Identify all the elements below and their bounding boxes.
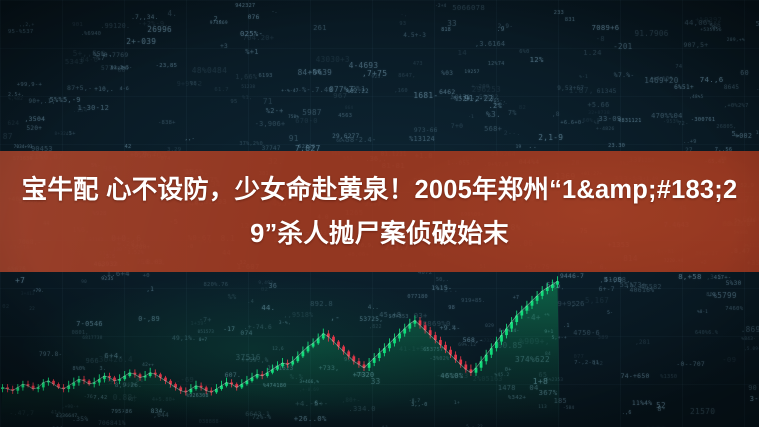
candle-body <box>378 353 381 358</box>
ticker-number: 064 <box>345 105 353 110</box>
ticker-number: 168% <box>125 383 137 388</box>
ticker-number: 53725, <box>359 316 383 323</box>
ticker-number: %8170 <box>451 95 470 101</box>
ticker-number: 0801, <box>72 330 89 336</box>
candle-body <box>408 324 411 329</box>
ticker-number: ,7+75 <box>362 69 387 78</box>
candle-body <box>490 348 493 355</box>
ticker-number: .. <box>528 141 537 150</box>
ticker-number: 45,+8 <box>379 311 401 319</box>
ticker-number: 95 <box>230 99 237 105</box>
candle-body <box>459 360 462 365</box>
ticker-number: 8645 <box>724 85 739 91</box>
ticker-number: 818 <box>441 27 451 33</box>
ticker-number: 58-2.4- <box>346 136 377 144</box>
candle-body <box>296 356 299 361</box>
ticker-number: +4.-5+- <box>295 399 328 408</box>
ticker-number: 60%-9 <box>583 118 600 124</box>
ticker-number: 1469+20 <box>644 76 679 85</box>
page-title: 宝牛配 心不设防，少女命赴黄泉！2005年郑州“1&amp;#183;29”杀人… <box>0 168 759 256</box>
candle-body <box>159 374 162 377</box>
ticker-number: .%6940 <box>81 31 102 37</box>
ticker-number: %.% <box>290 373 303 381</box>
ticker-number: %1350 <box>660 374 677 380</box>
ticker-number: %13124 <box>409 135 435 143</box>
ticker-number: 704.20+ <box>243 34 275 42</box>
ticker-number: 077%7 <box>329 85 353 94</box>
candle-body <box>78 379 81 382</box>
ticker-number: 2-9- <box>498 23 514 30</box>
ticker-number: 03+ <box>414 311 428 320</box>
ticker-number: 0-,89 <box>138 315 160 323</box>
ticker-number: 19 <box>516 145 522 150</box>
ticker-number: ++4-%04 <box>650 77 672 82</box>
ticker-number: +7320 <box>353 371 375 379</box>
ticker-number: 98 <box>448 305 455 311</box>
candle-body <box>464 365 467 370</box>
ticker-number: +79. <box>33 288 44 293</box>
ticker-number: 901 <box>72 22 83 28</box>
ticker-number: 973-66 <box>414 127 438 134</box>
ticker-number: 7,42 <box>93 395 107 401</box>
ticker-number: 2, <box>214 15 223 23</box>
ticker-number: -2+4 <box>435 3 446 8</box>
ticker-number: 0.88+ <box>113 393 138 402</box>
ticker-number: ,80+- <box>342 398 361 404</box>
ticker-number: 6+-7 <box>599 286 615 293</box>
candle-body <box>220 386 223 389</box>
ticker-number: 942327 <box>235 3 255 9</box>
ticker-number: ,26 <box>571 299 585 308</box>
candle-body <box>22 384 25 387</box>
ticker-number: 670-0 <box>295 117 318 125</box>
candle-body <box>495 342 498 349</box>
candle-body <box>485 355 488 362</box>
candle-body <box>505 329 508 336</box>
candle-body <box>123 376 126 379</box>
ticker-number: 2.. <box>444 285 459 294</box>
ticker-number: -%5799 <box>708 291 737 300</box>
ticker-number: 12% <box>530 55 544 64</box>
ticker-number: ,,9518% <box>284 311 314 319</box>
ticker-number: -. <box>55 413 63 420</box>
ticker-number: 470%%04 <box>651 112 683 120</box>
candle-body <box>103 376 106 379</box>
ticker-number: .+-74.6 <box>244 324 272 331</box>
ticker-number: -. <box>272 10 278 15</box>
candle-body <box>149 373 152 376</box>
ticker-number: 74 <box>675 64 682 70</box>
ticker-number: 1+ <box>168 384 175 390</box>
ticker-number: 2%05163 <box>473 375 503 383</box>
candle-body <box>42 383 45 388</box>
ticker-number: 1.87, <box>569 86 594 95</box>
ticker-number: 87+5,- <box>67 84 92 92</box>
candle-body <box>164 378 167 381</box>
ticker-number: 6- <box>314 401 322 407</box>
ticker-number: ,48%5 <box>689 94 703 99</box>
ticker-number: 84-6 <box>80 56 98 64</box>
ticker-number: 60 <box>740 69 749 77</box>
ticker-number: 2587 <box>111 67 124 72</box>
ticker-number: ,3.6164 <box>475 40 505 48</box>
ticker-number: 5-00 <box>604 275 623 284</box>
ticker-number: 49,1%. <box>172 335 196 342</box>
ticker-number: -7+ <box>199 316 212 324</box>
ticker-number: 7-,2-81 <box>574 360 599 366</box>
ticker-number: 607. <box>225 372 241 379</box>
ticker-number: 5.%.- <box>494 101 508 106</box>
ticker-number: 48%0484 <box>192 66 227 75</box>
ticker-number: +-%-47- <box>281 89 301 94</box>
ticker-number: %7.%- <box>614 71 635 79</box>
ticker-number: 41-1+53 <box>399 345 429 353</box>
candle-body <box>47 381 50 383</box>
ticker-number: 076 <box>248 14 260 21</box>
ticker-number: 12,6 <box>272 347 284 352</box>
ticker-number: +535956 <box>700 28 721 33</box>
ticker-number: 568+ <box>484 125 502 133</box>
ticker-number: 8+3243 <box>55 132 72 137</box>
ticker-number: -.47,7 <box>9 409 34 417</box>
ticker-number: 29,6277 <box>332 133 359 140</box>
ticker-number: 568,- <box>463 337 483 344</box>
ticker-number: ,+90-+ <box>62 404 79 409</box>
candle-body <box>261 374 264 376</box>
ticker-number: 9,493 <box>258 281 273 286</box>
ticker-number: 82 <box>519 105 526 111</box>
ticker-number: %926308 <box>186 393 209 399</box>
ticker-number: %831121 <box>618 118 642 124</box>
ticker-number: .2% <box>489 102 502 110</box>
ticker-number: +002 <box>735 132 752 140</box>
ticker-number: ,3.5 <box>707 275 722 281</box>
ticker-number: %,%82 <box>8 97 23 102</box>
candle-body <box>98 379 101 382</box>
ticker-number: 32+8738 <box>588 111 610 116</box>
ticker-number: 802 <box>706 292 716 298</box>
ticker-number: .,6 <box>622 410 632 416</box>
candle-body <box>556 281 559 284</box>
candle-body <box>52 381 55 384</box>
ticker-number: 33 <box>447 19 457 28</box>
ticker-number: 7% <box>508 109 517 117</box>
ticker-number: 5,1+3-9 <box>756 20 759 28</box>
ticker-number: 0+ <box>505 367 512 373</box>
candle-body <box>174 384 177 387</box>
ticker-number: 193- <box>355 372 370 378</box>
candle-body <box>118 379 121 381</box>
candle-body <box>352 356 355 361</box>
ticker-number: 61345 <box>597 88 617 95</box>
candle-body <box>154 373 157 375</box>
ticker-number: 44. <box>261 303 275 312</box>
ticker-number: 7460% <box>725 306 743 312</box>
ticker-number: 025%- <box>240 29 263 38</box>
ticker-number: 33 <box>371 377 381 386</box>
candle-body <box>32 386 35 389</box>
ticker-number: 7+0 <box>451 122 463 130</box>
ticker-number: 966 <box>86 357 100 365</box>
ticker-number: -1 <box>468 115 474 120</box>
candle-body <box>383 348 386 353</box>
ticker-number: 4.. <box>368 305 379 311</box>
ticker-number: 820%.76 <box>204 282 229 288</box>
candle-body <box>1 387 4 389</box>
ticker-number: %0-1 <box>697 309 708 314</box>
ticker-number: -953% <box>663 119 679 125</box>
ticker-number: 59182 <box>479 94 499 101</box>
ticker-number: 2%1 <box>352 84 366 93</box>
ticker-number: 3-6.+49 <box>750 394 759 403</box>
candle-body <box>347 351 350 356</box>
ticker-number: 750% <box>288 114 299 119</box>
ticker-number: ,+, <box>553 285 564 291</box>
candle-body <box>373 358 376 363</box>
candle-body <box>480 361 483 368</box>
candle-body <box>266 373 269 376</box>
candle-body <box>215 389 218 392</box>
ticker-number: 84+0%39 <box>298 68 333 77</box>
ticker-number: +7 <box>513 295 520 301</box>
ticker-number: 6% <box>136 378 143 384</box>
ticker-number: -%7 <box>92 53 106 62</box>
candle-body <box>235 384 238 387</box>
candle-body <box>393 338 396 343</box>
ticker-number: 12%74 <box>488 61 505 67</box>
ticker-number: %-.7.48 <box>302 86 333 94</box>
ticker-number: %45.2 <box>495 373 510 378</box>
ticker-number: 5066078 <box>452 3 485 12</box>
ticker-number: 90+,.1, <box>29 99 56 105</box>
ticker-number: 44,06% <box>684 18 712 27</box>
ticker-number: 473 <box>413 61 423 67</box>
ticker-number: 974869 <box>210 21 228 26</box>
candle-body <box>317 338 320 343</box>
ticker-number: 72- <box>678 121 689 127</box>
ticker-number: %-1 <box>579 75 588 80</box>
ticker-number: ,822 <box>369 325 382 330</box>
ticker-number: 30426.4 <box>99 355 133 364</box>
ticker-number: 02 <box>261 287 268 293</box>
ticker-number: 50+353 <box>389 314 409 320</box>
ticker-number: 46582 <box>640 283 662 291</box>
chart-glow <box>0 250 580 427</box>
ticker-number: %03 <box>441 70 453 77</box>
ticker-number: %342+ <box>508 395 526 401</box>
ticker-number: .154 <box>73 108 88 114</box>
ticker-number: +9.4- <box>440 324 461 332</box>
candle-body <box>444 345 447 350</box>
ticker-number: 074 <box>240 330 252 337</box>
ticker-number: 6462 <box>439 89 455 96</box>
ticker-number: %1, <box>242 95 252 101</box>
ticker-number: 5+,,8-% <box>73 49 107 58</box>
ticker-number: 7, <box>122 410 128 415</box>
ticker-number: 02 <box>2 304 9 310</box>
candle-body <box>108 376 111 378</box>
candle-body <box>286 363 289 365</box>
ticker-number: 40616% <box>630 286 655 294</box>
ticker-number: 9+95 <box>557 299 576 308</box>
ticker-number: %% <box>228 293 237 301</box>
candle-body <box>429 330 432 335</box>
ticker-number: ,1 <box>146 287 154 293</box>
ticker-number: ,% <box>626 282 634 289</box>
ticker-number: 209,+% <box>727 38 745 43</box>
ticker-number: .7,,34. <box>131 14 158 21</box>
ticker-number: 66 <box>118 68 126 74</box>
candle-body <box>67 386 70 389</box>
candle-body <box>424 325 427 330</box>
ticker-number: 37516 <box>236 353 261 362</box>
ticker-number: -5%2353 <box>543 378 563 383</box>
ticker-number: 6%51+ <box>674 84 694 91</box>
candle-body <box>72 383 75 386</box>
candlestick-svg <box>0 262 560 427</box>
candle-body <box>510 322 513 329</box>
ticker-number: 51238 <box>241 84 255 89</box>
ticker-number: 2,1-9 <box>538 133 563 142</box>
candle-body <box>368 363 371 368</box>
candle-body <box>271 369 274 372</box>
candle-body <box>11 389 14 391</box>
ticker-number: 795-86 <box>111 409 132 415</box>
ticker-number: -765-, <box>487 99 506 104</box>
candle-body <box>312 343 315 346</box>
candle-body <box>144 376 147 378</box>
candle-body <box>536 296 539 301</box>
ticker-number: -%7321 <box>478 338 495 343</box>
ticker-number: 5,167 <box>585 296 609 305</box>
ticker-number: 19257 <box>464 70 479 75</box>
ticker-number: 3. <box>100 366 107 372</box>
ticker-number: 91.7906 <box>635 29 669 38</box>
ticker-number: 66%+ <box>336 138 347 143</box>
ticker-number: 029 <box>485 324 494 329</box>
ticker-number: -4+ <box>526 313 541 322</box>
candle-body <box>139 374 142 377</box>
ticker-number: 33-09 <box>598 114 621 123</box>
ticker-number: 5- <box>607 311 613 316</box>
ticker-number: 3+413 <box>21 291 35 296</box>
ticker-number: %8 <box>594 121 600 126</box>
ticker-number: 6817738 <box>82 336 102 341</box>
candle-body <box>6 387 9 389</box>
candle-body <box>16 387 19 390</box>
candle-body <box>403 329 406 334</box>
ticker-number: %474180 <box>263 383 287 389</box>
ticker-number: 91 <box>289 134 299 143</box>
ticker-number: -838+ <box>158 120 176 126</box>
ticker-number: 84 <box>545 352 551 357</box>
ticker-number: 1-30-12 <box>78 104 110 112</box>
candle-body <box>246 381 249 384</box>
ticker-number: +3 <box>220 43 228 50</box>
ticker-number: 1478 <box>498 384 516 392</box>
ticker-number: 37%,2%0 <box>239 141 263 147</box>
candle-body <box>184 391 187 393</box>
ticker-number: -8,7 <box>409 398 420 403</box>
ticker-number: 50,. <box>436 277 449 283</box>
ticker-number: ,+-0.69 <box>299 387 319 392</box>
ticker-number: 1.24 <box>583 48 602 57</box>
ticker-number: 9235 <box>101 277 114 282</box>
ticker-number: 205 <box>522 308 531 313</box>
ticker-number: 65 <box>539 371 548 379</box>
ticker-number: 1681- <box>413 91 438 100</box>
candle-body <box>128 373 131 376</box>
ticker-number: %843- <box>741 337 756 342</box>
candle-body <box>240 384 243 387</box>
candle-body <box>470 369 473 372</box>
ticker-number: 00.85 <box>498 341 523 350</box>
ticker-number: 6643-1 <box>245 410 270 418</box>
candle-body <box>551 285 554 288</box>
candle-body <box>449 350 452 355</box>
chart-close-line <box>3 281 558 392</box>
ticker-number: %3. <box>486 110 501 119</box>
ticker-number: -0--707 <box>676 361 705 368</box>
ticker-number: 55 <box>109 378 118 386</box>
ticker-number: -76. <box>84 395 97 400</box>
ticker-number: 4336647 <box>56 414 77 419</box>
ticker-number: 74-+650 <box>621 372 650 380</box>
ticker-number: -201 <box>613 42 632 51</box>
candle-body <box>27 384 30 386</box>
ticker-number: 2--. <box>504 129 521 137</box>
candle-body <box>434 335 437 340</box>
ticker-number: .99120. <box>100 22 130 30</box>
ticker-number: 5,+-+ <box>552 336 567 341</box>
ticker-number: ,+0%2%7 <box>724 103 749 109</box>
ticker-number: 261 <box>313 23 327 32</box>
ticker-number: 9, <box>344 357 351 363</box>
ticker-number: 907,5+ <box>684 41 709 49</box>
ticker-number: 9+1 <box>544 330 553 335</box>
ticker-number: ,281 <box>635 340 650 346</box>
candle-body <box>291 361 294 364</box>
ticker-number: ,044 <box>153 412 169 419</box>
candle-body <box>62 387 65 389</box>
candle-body <box>337 342 340 347</box>
ticker-number: 61.7 <box>214 87 228 93</box>
ticker-number: ++59.,% <box>241 357 268 364</box>
ticker-number: .5+ <box>65 131 75 137</box>
ticker-number: 90 <box>748 384 757 392</box>
ticker-number: -23,85 <box>156 63 178 69</box>
ticker-number: %8. <box>190 81 201 87</box>
ticker-number: 1+8 <box>533 377 548 386</box>
ticker-number: 5, <box>732 129 741 138</box>
ticker-number: 0+7 <box>199 337 207 342</box>
candle-body <box>546 288 549 291</box>
ticker-number: 9+97.2 <box>177 80 203 88</box>
candle-body <box>414 320 417 323</box>
ticker-number: 113 <box>538 405 547 410</box>
ticker-number: 4563 <box>338 113 352 119</box>
ticker-number: %+1 <box>245 48 259 56</box>
candle-body <box>531 301 534 306</box>
candle-body <box>500 335 503 342</box>
ticker-number: ,- <box>330 313 340 322</box>
ticker-number: 3-%, <box>279 321 291 326</box>
ticker-number: 374%622 <box>515 355 550 364</box>
ticker-number: +-4826 <box>596 127 615 132</box>
ticker-number: .1 <box>563 323 570 329</box>
ticker-number: 41+ <box>51 410 61 416</box>
ticker-number: 5343 <box>65 57 84 66</box>
